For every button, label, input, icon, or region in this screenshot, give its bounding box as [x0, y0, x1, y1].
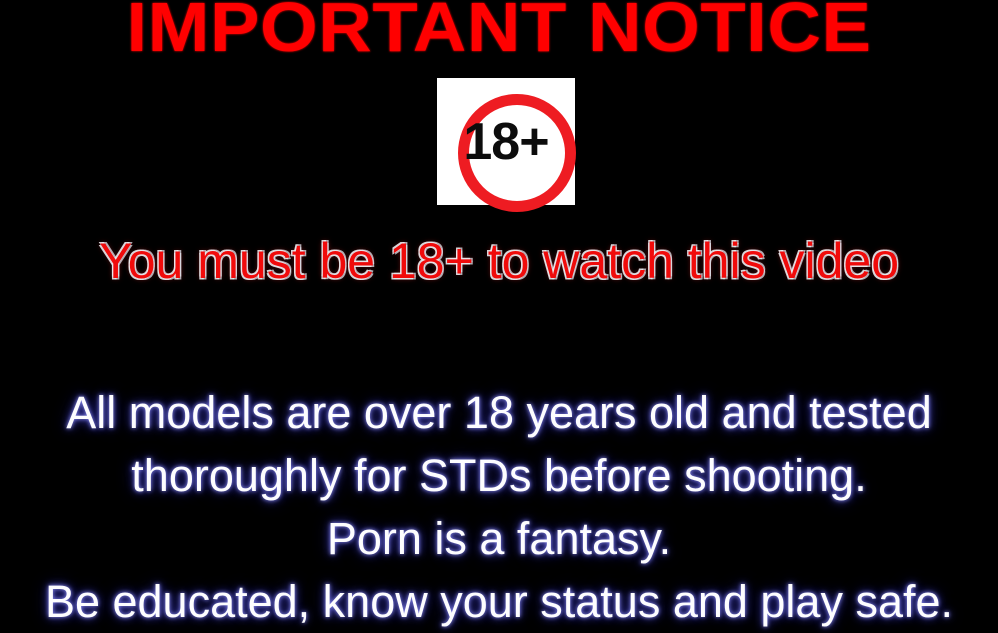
age-verification-notice-screen: IMPORTANT NOTICE 18+ You must be 18+ to …	[0, 0, 998, 628]
age-requirement-subtitle: You must be 18+ to watch this video	[0, 232, 998, 290]
page-title: IMPORTANT NOTICE	[0, 0, 998, 65]
age-rating-badge-label: 18+	[437, 114, 575, 170]
age-rating-badge: 18+	[437, 78, 575, 205]
disclaimer-text-block: All models are over 18 years old and tes…	[0, 381, 998, 633]
disclaimer-line: All models are over 18 years old and tes…	[0, 381, 998, 444]
disclaimer-line: Be educated, know your status and play s…	[0, 570, 998, 633]
disclaimer-line: thoroughly for STDs before shooting.	[0, 444, 998, 507]
disclaimer-line: Porn is a fantasy.	[0, 507, 998, 570]
